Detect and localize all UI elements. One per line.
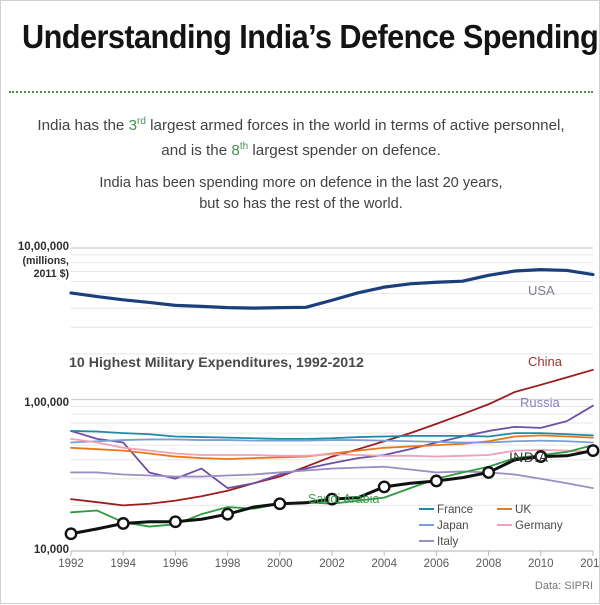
intro-line2-a: and is the [161, 142, 231, 159]
x-axis-tick-1992: 1992 [48, 558, 94, 570]
intro-paragraph-2: India has been spending more on defence … [9, 173, 593, 215]
intro-line2-b: largest spender on defence. [248, 142, 441, 159]
series-marker-india [275, 499, 285, 509]
y-axis-mid-label: 1,00,000 [1, 397, 69, 409]
intro-line1-a: India has the [37, 117, 128, 134]
legend-label-germany: Germany [515, 519, 563, 532]
series-label-russia: Russia [520, 395, 560, 410]
legend-label-france: France [437, 503, 473, 516]
x-axis-tick-2004: 2004 [361, 558, 407, 570]
series-marker-india [588, 445, 598, 455]
legend-swatch-germany [497, 524, 512, 527]
intro-line4: but so has the rest of the world. [199, 196, 403, 212]
legend-label-uk: UK [515, 503, 531, 516]
series-marker-india [66, 529, 76, 539]
chart-container: 10,00,000 (millions, 2011 $) 1,00,000 10… [1, 229, 600, 605]
legend-swatch-italy [419, 540, 434, 543]
infographic-page: Understanding India’s Defence Spending I… [0, 0, 600, 604]
y-axis-top-label: 10,00,000 [1, 241, 69, 253]
x-axis-tick-1996: 1996 [152, 558, 198, 570]
series-label-china: China [528, 354, 562, 369]
intro-paragraph: India has the 3rd largest armed forces i… [9, 111, 593, 161]
chart-legend: FranceUKJapanGermanyItaly [419, 501, 591, 549]
intro-rank-3: 3 [129, 117, 137, 134]
series-marker-india [379, 482, 389, 492]
series-marker-india [431, 476, 441, 486]
intro-line1-b: largest armed forces in the world in ter… [146, 117, 565, 134]
series-label-india: INDIA [509, 449, 548, 465]
series-marker-india [170, 517, 180, 527]
series-marker-india [118, 518, 128, 528]
intro-rank-8-suffix: th [240, 141, 248, 152]
legend-item-italy[interactable]: Italy [419, 533, 497, 549]
x-axis-tick-2012: 2012 [570, 558, 600, 570]
series-line-usa [71, 270, 593, 309]
y-axis-units-line2: 2011 $) [34, 268, 69, 280]
x-axis-tick-1998: 1998 [205, 558, 251, 570]
series-line-france [71, 431, 593, 439]
series-line-italy [71, 467, 593, 488]
chart-title: 10 Highest Military Expenditures, 1992-2… [69, 355, 364, 371]
y-axis-units-line1: (millions, [23, 255, 70, 267]
legend-item-germany[interactable]: Germany [497, 517, 591, 533]
x-axis-tick-2006: 2006 [413, 558, 459, 570]
x-axis-tick-2010: 2010 [518, 558, 564, 570]
x-axis-tick-1994: 1994 [100, 558, 146, 570]
legend-item-japan[interactable]: Japan [419, 517, 497, 533]
chart-x-axis [71, 551, 593, 556]
header-divider [9, 91, 593, 93]
legend-label-italy: Italy [437, 535, 458, 548]
y-axis-bottom-label: 10,000 [1, 544, 69, 556]
legend-item-uk[interactable]: UK [497, 501, 591, 517]
legend-swatch-france [419, 508, 434, 511]
intro-rank-3-suffix: rd [137, 116, 146, 127]
legend-label-japan: Japan [437, 519, 469, 532]
series-marker-india [483, 467, 493, 477]
x-axis-tick-2008: 2008 [466, 558, 512, 570]
x-axis-tick-2002: 2002 [309, 558, 355, 570]
series-line-japan [71, 439, 593, 442]
series-label-usa: USA [528, 283, 555, 298]
legend-swatch-japan [419, 524, 434, 527]
legend-item-france[interactable]: France [419, 501, 497, 517]
data-source-credit: Data: SIPRI [535, 580, 593, 592]
intro-line3: India has been spending more on defence … [99, 175, 502, 191]
y-axis-units-label: (millions, 2011 $) [1, 255, 69, 281]
x-axis-tick-2000: 2000 [257, 558, 303, 570]
series-marker-india [222, 509, 232, 519]
page-title: Understanding India’s Defence Spending [22, 18, 580, 56]
intro-rank-8: 8 [231, 142, 239, 159]
series-label-saudi: Saudi Arabia [308, 492, 379, 506]
legend-swatch-uk [497, 508, 512, 511]
